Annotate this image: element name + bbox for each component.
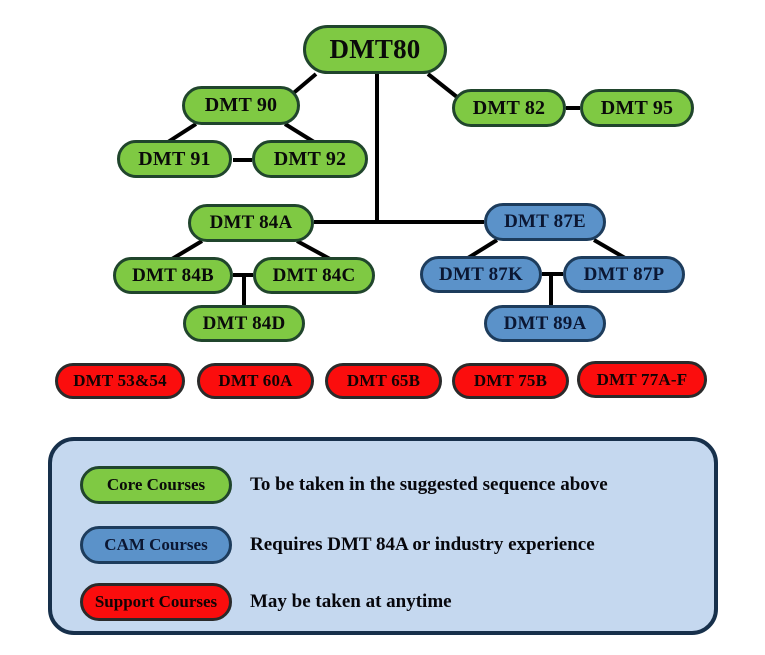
- course-node-dmt92[interactable]: DMT 92: [252, 140, 368, 178]
- course-node-dmt80[interactable]: DMT80: [303, 25, 447, 74]
- course-node-dmt77af[interactable]: DMT 77A-F: [577, 361, 707, 398]
- course-node-dmt84c[interactable]: DMT 84C: [253, 257, 375, 294]
- edge-dmt80-dmt82: [428, 74, 457, 97]
- course-node-dmt89a[interactable]: DMT 89A: [484, 305, 606, 342]
- course-node-label: DMT 89A: [504, 313, 587, 335]
- course-node-dmt75b[interactable]: DMT 75B: [452, 363, 569, 399]
- legend-description: Requires DMT 84A or industry experience: [250, 534, 595, 556]
- legend-row-cam: CAM CoursesRequires DMT 84A or industry …: [80, 526, 595, 564]
- legend-row-support: Support CoursesMay be taken at anytime: [80, 583, 452, 621]
- course-node-label: DMT 53&54: [73, 371, 167, 391]
- legend-description: May be taken at anytime: [250, 591, 452, 613]
- course-node-label: DMT 75B: [474, 371, 547, 391]
- legend-row-core: Core CoursesTo be taken in the suggested…: [80, 466, 608, 504]
- legend-pill-label: Support Courses: [95, 592, 217, 612]
- course-node-dmt87p[interactable]: DMT 87P: [563, 256, 685, 293]
- course-node-dmt87k[interactable]: DMT 87K: [420, 256, 542, 293]
- course-node-label: DMT 87E: [504, 211, 586, 233]
- legend-panel: Core CoursesTo be taken in the suggested…: [48, 437, 718, 635]
- course-node-label: DMT 65B: [347, 371, 420, 391]
- course-node-dmt84d[interactable]: DMT 84D: [183, 305, 305, 342]
- course-node-dmt60a[interactable]: DMT 60A: [197, 363, 314, 399]
- legend-pill-core[interactable]: Core Courses: [80, 466, 232, 504]
- legend-pill-support[interactable]: Support Courses: [80, 583, 232, 621]
- course-node-label: DMT 90: [205, 94, 278, 117]
- course-node-dmt87e[interactable]: DMT 87E: [484, 203, 606, 241]
- course-node-label: DMT 60A: [218, 371, 292, 391]
- course-node-dmt95[interactable]: DMT 95: [580, 89, 694, 127]
- course-node-dmt84b[interactable]: DMT 84B: [113, 257, 233, 294]
- legend-description: To be taken in the suggested sequence ab…: [250, 474, 608, 496]
- course-node-dmt84a[interactable]: DMT 84A: [188, 204, 314, 242]
- course-node-dmt65b[interactable]: DMT 65B: [325, 363, 442, 399]
- course-node-dmt82[interactable]: DMT 82: [452, 89, 566, 127]
- course-node-label: DMT 77A-F: [597, 370, 688, 390]
- course-node-label: DMT 82: [473, 97, 546, 120]
- legend-pill-label: Core Courses: [107, 475, 205, 495]
- course-node-label: DMT 84D: [203, 313, 286, 335]
- course-node-label: DMT 84C: [273, 265, 356, 287]
- legend-pill-label: CAM Courses: [104, 535, 207, 555]
- legend-pill-cam[interactable]: CAM Courses: [80, 526, 232, 564]
- course-node-label: DMT 87K: [439, 264, 523, 286]
- course-node-label: DMT 91: [138, 148, 211, 171]
- course-node-label: DMT 95: [601, 97, 674, 120]
- course-node-label: DMT 87P: [584, 264, 665, 286]
- course-node-label: DMT80: [330, 34, 421, 65]
- course-node-label: DMT 84B: [132, 265, 214, 287]
- flowchart-canvas: DMT80DMT 90DMT 91DMT 92DMT 82DMT 95DMT 8…: [0, 0, 765, 655]
- course-node-label: DMT 84A: [210, 212, 293, 234]
- course-node-dmt5354[interactable]: DMT 53&54: [55, 363, 185, 399]
- course-node-label: DMT 92: [274, 148, 347, 171]
- course-node-dmt91[interactable]: DMT 91: [117, 140, 232, 178]
- course-node-dmt90[interactable]: DMT 90: [182, 86, 300, 125]
